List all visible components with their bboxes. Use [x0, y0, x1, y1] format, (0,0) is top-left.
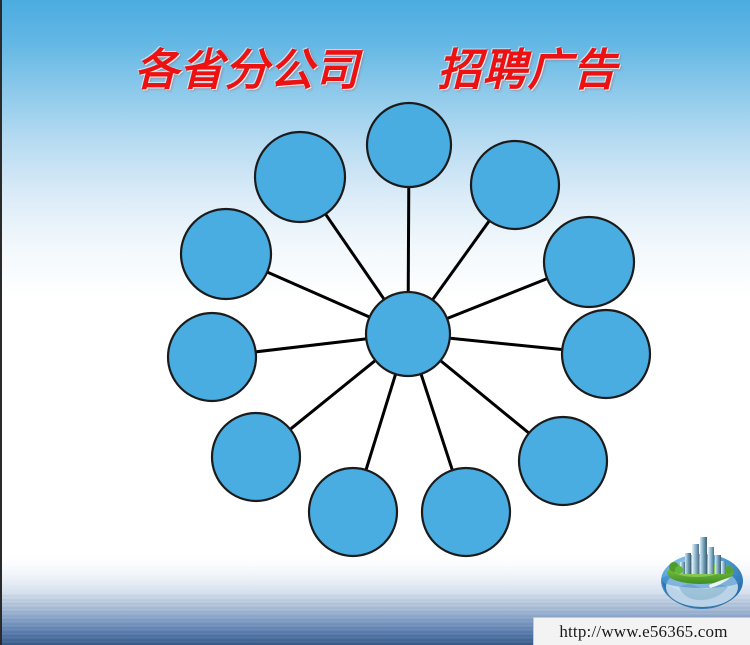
spoke-line-6: [420, 372, 453, 472]
hub-node-group: [366, 292, 450, 376]
node-circle-top-right[interactable]: [471, 141, 559, 229]
spoke-line-10: [265, 271, 371, 318]
building-6: [721, 561, 726, 574]
building-1: [685, 553, 691, 574]
building-3: [700, 537, 707, 574]
tree-2: [675, 566, 683, 574]
node-circle-bottom-right[interactable]: [519, 417, 607, 505]
title-right-text: 招聘广告: [438, 34, 618, 98]
node-circle-left-upper[interactable]: [181, 209, 271, 299]
building-5: [715, 555, 721, 574]
title-left-text: 各省分公司: [135, 34, 360, 98]
globe-city-logo: [657, 525, 747, 611]
spoke-line-1: [408, 185, 409, 294]
node-circle-right-upper[interactable]: [544, 217, 634, 307]
spoke-line-4: [448, 338, 564, 350]
slide-canvas: 各省分公司 招聘广告: [0, 0, 750, 645]
spoke-line-11: [324, 212, 385, 301]
spoke-line-5: [439, 359, 531, 434]
spoke-line-8: [289, 359, 377, 430]
url-watermark-bar: http://www.e56365.com: [533, 617, 750, 645]
spoke-line-2: [431, 219, 490, 301]
node-circle-bottom-center-left[interactable]: [309, 468, 397, 556]
spoke-line-3: [445, 278, 549, 319]
spoke-line-9: [254, 339, 369, 352]
hub-and-spoke-diagram: [2, 0, 750, 645]
node-circle-top-left[interactable]: [255, 132, 345, 222]
node-circle-top[interactable]: [367, 103, 451, 187]
building-2: [692, 544, 699, 574]
tree-3: [725, 566, 733, 574]
watermark-url-text: http://www.e56365.com: [559, 622, 727, 642]
node-circle-right[interactable]: [562, 310, 650, 398]
node-circle-left[interactable]: [168, 313, 256, 401]
node-circle-bottom-left[interactable]: [212, 413, 300, 501]
slide-title: 各省分公司 招聘广告: [2, 36, 750, 96]
building-4: [708, 547, 714, 574]
node-circle-bottom-center-right[interactable]: [422, 468, 510, 556]
spoke-line-7: [365, 372, 396, 472]
hub-circle[interactable]: [366, 292, 450, 376]
